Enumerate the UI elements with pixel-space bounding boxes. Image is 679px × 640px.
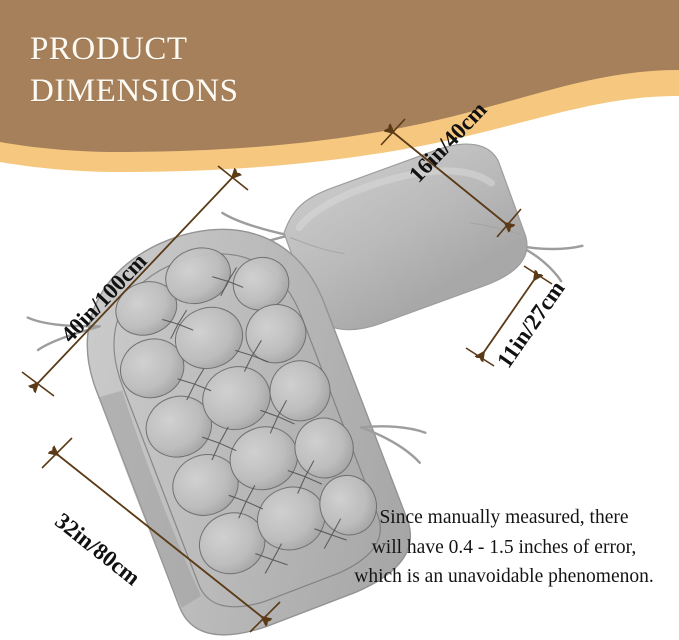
product-dimensions-infographic: PRODUCT DIMENSIONS bbox=[0, 0, 679, 640]
measurement-disclaimer: Since manually measured, there will have… bbox=[338, 503, 670, 592]
